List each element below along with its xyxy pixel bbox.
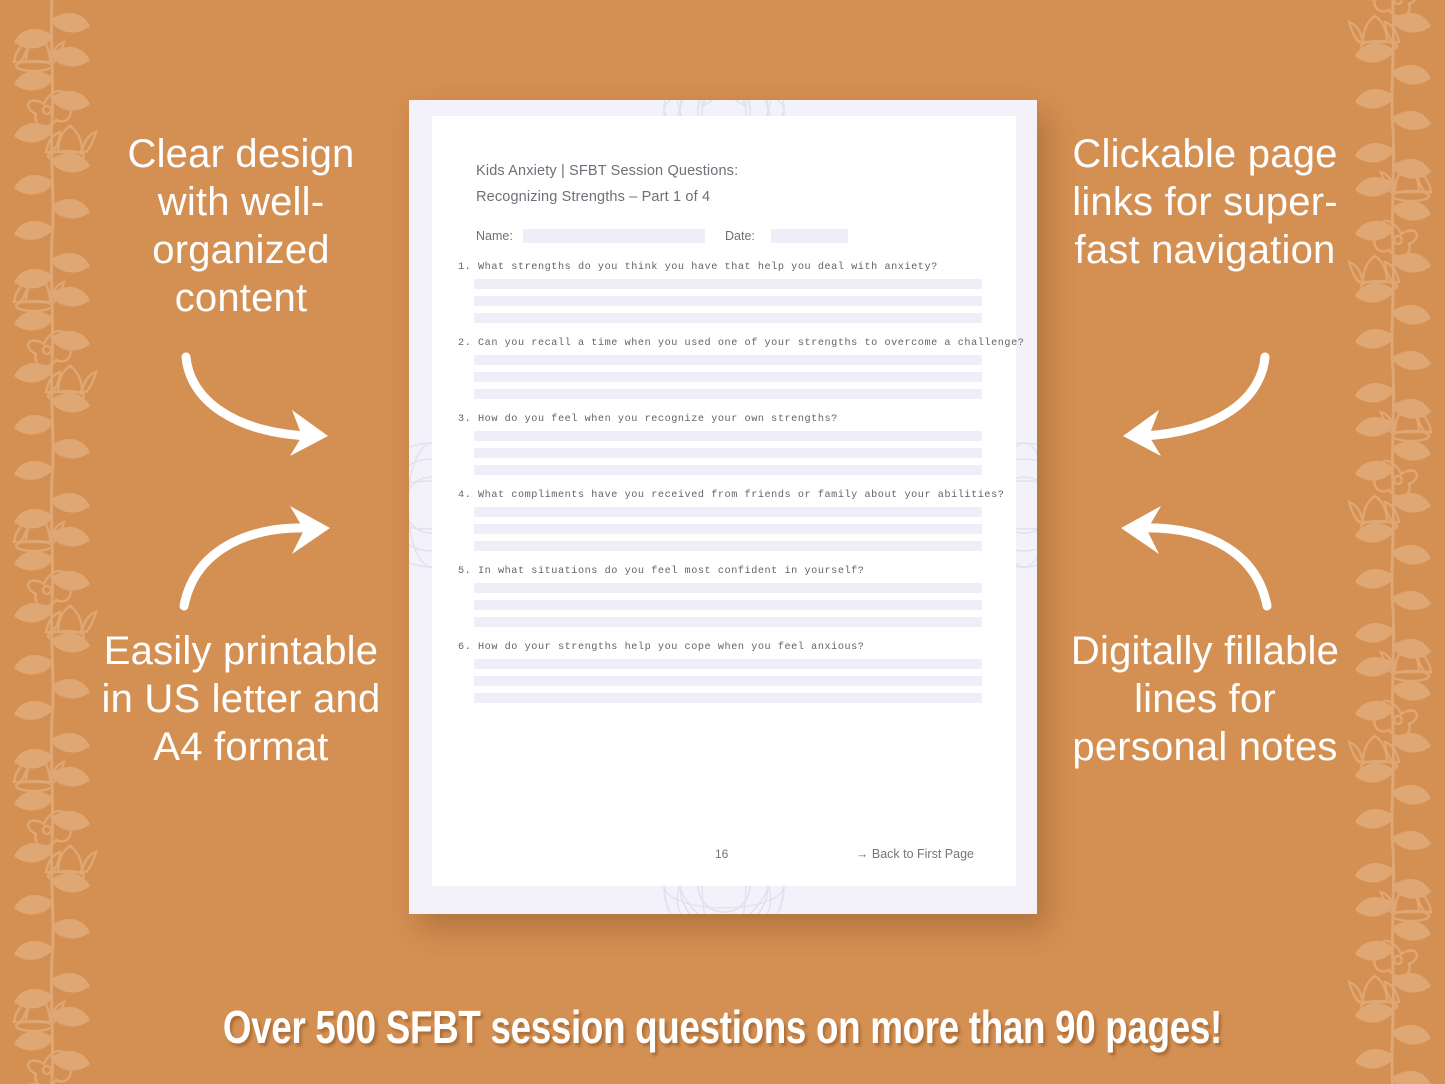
caption-printable: Easily printable in US letter and A4 for… — [96, 627, 386, 771]
name-input[interactable] — [523, 229, 705, 243]
date-input[interactable] — [771, 229, 848, 243]
question-text: 5. In what situations do you feel most c… — [458, 566, 1016, 577]
question-block: 2. Can you recall a time when you used o… — [432, 338, 1016, 399]
question-text: 4. What compliments have you received fr… — [458, 490, 1016, 501]
answer-line[interactable] — [474, 465, 982, 475]
question-text: 3. How do you feel when you recognize yo… — [458, 414, 1016, 425]
bottom-banner: Over 500 SFBT session questions on more … — [0, 969, 1445, 1084]
curved-arrow-up-left-icon — [1100, 506, 1275, 611]
worksheet-footer: 16 → Back to First Page — [432, 847, 1016, 865]
document-preview[interactable]: Kids Anxiety | SFBT Session Questions: R… — [409, 100, 1037, 914]
answer-lines — [474, 355, 982, 399]
answer-line[interactable] — [474, 431, 982, 441]
answer-line[interactable] — [474, 313, 982, 323]
answer-line[interactable] — [474, 355, 982, 365]
name-label: Name: — [476, 229, 513, 243]
question-text: 6. How do your strengths help you cope w… — [458, 642, 1016, 653]
answer-line[interactable] — [474, 693, 982, 703]
question-block: 6. How do your strengths help you cope w… — [432, 642, 1016, 703]
worksheet-page: Kids Anxiety | SFBT Session Questions: R… — [432, 116, 1016, 886]
curved-arrow-down-left-icon — [1100, 352, 1275, 457]
curved-arrow-down-right-icon — [176, 352, 351, 457]
curved-arrow-up-right-icon — [176, 506, 351, 611]
question-list: 1. What strengths do you think you have … — [432, 262, 1016, 718]
answer-line[interactable] — [474, 659, 982, 669]
caption-clickable-links: Clickable page links for super-fast navi… — [1060, 130, 1350, 274]
answer-line[interactable] — [474, 676, 982, 686]
answer-line[interactable] — [474, 296, 982, 306]
answer-line[interactable] — [474, 583, 982, 593]
answer-lines — [474, 583, 982, 627]
caption-clear-design: Clear design with well-organized content — [96, 130, 386, 322]
floral-vine-border-icon — [1340, 0, 1445, 1084]
answer-line[interactable] — [474, 507, 982, 517]
caption-fillable-lines: Digitally fillable lines for personal no… — [1060, 627, 1350, 771]
worksheet-title-line-2: Recognizing Strengths – Part 1 of 4 — [476, 189, 710, 205]
worksheet-title-line-1: Kids Anxiety | SFBT Session Questions: — [476, 163, 738, 179]
answer-line[interactable] — [474, 279, 982, 289]
promo-canvas: Clear design with well-organized content… — [0, 0, 1445, 1084]
banner-headline: Over 500 SFBT session questions on more … — [223, 1000, 1222, 1054]
question-block: 4. What compliments have you received fr… — [432, 490, 1016, 551]
page-number: 16 — [715, 847, 728, 861]
question-block: 3. How do you feel when you recognize yo… — [432, 414, 1016, 475]
question-block: 1. What strengths do you think you have … — [432, 262, 1016, 323]
answer-lines — [474, 507, 982, 551]
floral-vine-border-icon — [0, 0, 105, 1084]
answer-line[interactable] — [474, 389, 982, 399]
question-block: 5. In what situations do you feel most c… — [432, 566, 1016, 627]
answer-lines — [474, 659, 982, 703]
answer-line[interactable] — [474, 600, 982, 610]
answer-line[interactable] — [474, 372, 982, 382]
answer-line[interactable] — [474, 541, 982, 551]
answer-line[interactable] — [474, 448, 982, 458]
answer-lines — [474, 431, 982, 475]
answer-line[interactable] — [474, 617, 982, 627]
back-to-first-page-link[interactable]: → Back to First Page — [856, 847, 974, 861]
date-label: Date: — [725, 229, 755, 243]
name-date-row: Name: Date: — [476, 229, 976, 245]
answer-line[interactable] — [474, 524, 982, 534]
answer-lines — [474, 279, 982, 323]
question-text: 2. Can you recall a time when you used o… — [458, 338, 1016, 349]
question-text: 1. What strengths do you think you have … — [458, 262, 1016, 273]
